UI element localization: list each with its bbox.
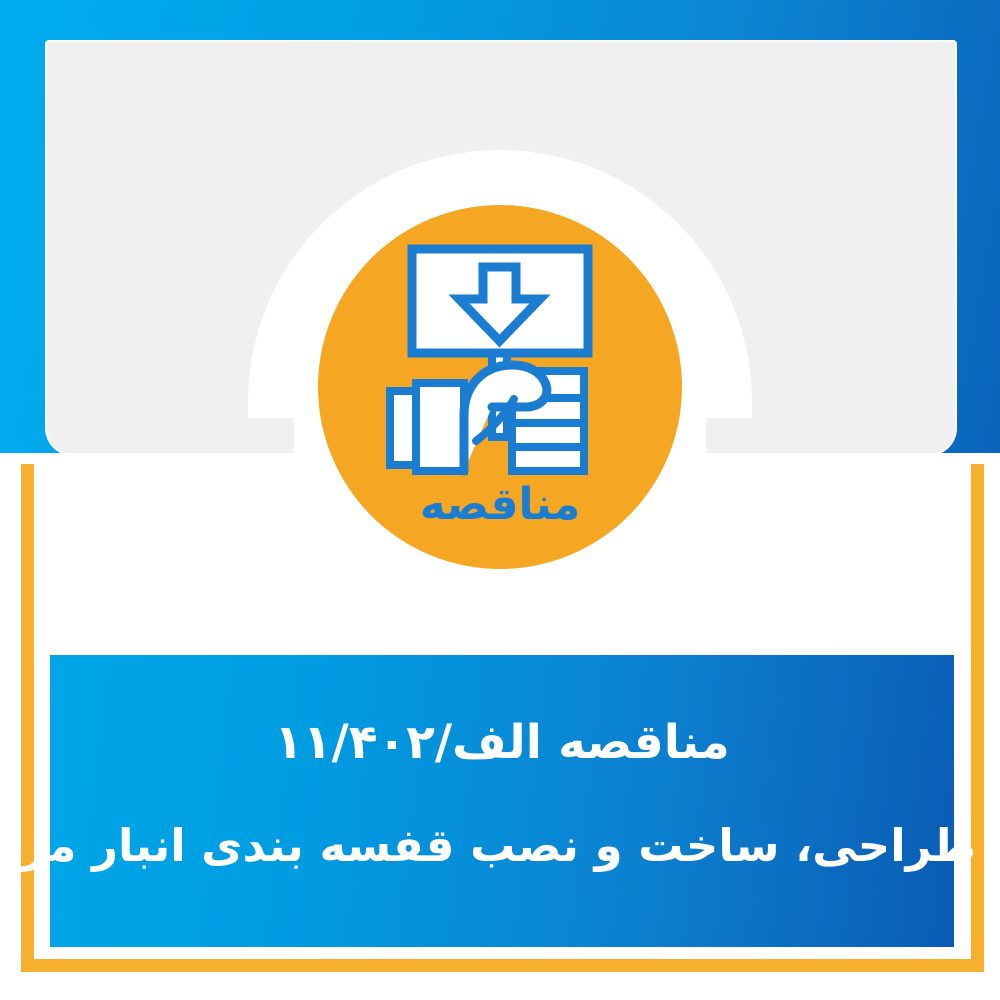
hand-holding-tender-sign-icon [380, 243, 620, 479]
tender-announcement-card: مناقصه مناقصه الف/۱۱/۴۰۲ طراحی، ساخت و ن… [0, 0, 1000, 1000]
orange-frame-bottom-rail [21, 959, 984, 972]
tender-number-title: مناقصه الف/۱۱/۴۰۲ [28, 711, 976, 774]
tender-subject-title: طراحی، ساخت و نصب قفسه بندی انبار مرکزی [28, 816, 976, 877]
badge-caption-label: مناقصه [318, 483, 682, 527]
tender-badge-circle: مناقصه [318, 205, 682, 569]
title-text-group: مناقصه الف/۱۱/۴۰۲ طراحی، ساخت و نصب قفسه… [28, 711, 976, 877]
title-banner: مناقصه الف/۱۱/۴۰۲ طراحی، ساخت و نصب قفسه… [50, 655, 954, 947]
tender-badge-inner: مناقصه [318, 205, 682, 569]
